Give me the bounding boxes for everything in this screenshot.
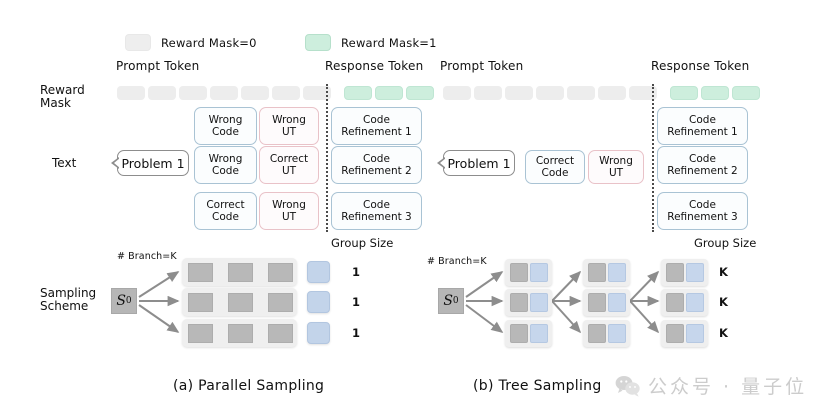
card-ut: Correct UT [259, 146, 319, 184]
card-code: Wrong Code [194, 107, 257, 145]
card-response-l2: Refinement 3 [341, 211, 412, 224]
token-chip-prompt [474, 86, 502, 100]
card-response-l2: Refinement 3 [667, 211, 738, 224]
card-ut-l1: Wrong [599, 155, 633, 168]
group-size-value: K [719, 295, 728, 309]
row-label-sampling-l2: Scheme [40, 300, 96, 313]
card-ut-l2: UT [282, 126, 296, 139]
branch-label-left: # Branch=K [117, 251, 177, 262]
chain-node [268, 263, 293, 282]
card-code-l1: Correct [206, 199, 244, 212]
chain-node [228, 263, 253, 282]
root-state-subscript: 0 [126, 296, 132, 306]
reward-mask-row-right [443, 86, 760, 100]
caption-tree-sampling: (b) Tree Sampling [473, 378, 602, 394]
tree-node [583, 320, 630, 347]
root-state-symbol: S [116, 293, 126, 309]
tree-node-state [510, 324, 528, 343]
chain-node [268, 324, 293, 343]
branch-label-right: # Branch=K [427, 256, 487, 267]
sampling-chain [182, 258, 297, 286]
problem-bubble-left: Problem 1 [117, 150, 189, 176]
result-box [307, 291, 330, 313]
token-chip-response [670, 86, 698, 100]
chain-node [188, 263, 213, 282]
card-ut-l1: Wrong [272, 114, 306, 127]
card-ut-l2: UT [609, 167, 623, 180]
chain-node [228, 293, 253, 312]
header-prompt-token-right: Prompt Token [440, 59, 523, 73]
figure-root: Reward Mask=0 Reward Mask=1 Prompt Token… [0, 0, 832, 414]
token-chip-prompt [443, 86, 471, 100]
tree-node [661, 259, 708, 286]
tree-node-result [686, 293, 704, 312]
card-ut: Wrong UT [588, 150, 644, 184]
tree-node-result [530, 293, 548, 312]
chain-node [188, 293, 213, 312]
card-ut-l2: UT [282, 211, 296, 224]
legend-label-mask0: Reward Mask=0 [161, 36, 257, 50]
result-box [307, 261, 330, 283]
tree-node-state [666, 293, 684, 312]
caption-parallel-sampling: (a) Parallel Sampling [173, 378, 324, 394]
tree-node-result [530, 324, 548, 343]
tree-node-state [666, 263, 684, 282]
card-code-l2: Code [212, 126, 239, 139]
token-chip-prompt [536, 86, 564, 100]
card-response: Code Refinement 2 [331, 146, 422, 184]
row-label-reward-mask-l2: Mask [40, 97, 85, 110]
card-code: Correct Code [194, 192, 257, 230]
tree-node [661, 320, 708, 347]
card-code: Correct Code [525, 150, 585, 184]
card-response-l2: Refinement 2 [667, 165, 738, 178]
token-chip-prompt [117, 86, 145, 100]
token-chip-response [344, 86, 372, 100]
legend-item-mask1: Reward Mask=1 [305, 34, 437, 51]
reward-mask-row-left [117, 86, 434, 100]
divider-prompt-response-left [326, 84, 328, 232]
card-code: Wrong Code [194, 146, 257, 184]
tree-node [505, 289, 552, 316]
card-response: Code Refinement 2 [657, 146, 748, 184]
token-chip-prompt [598, 86, 626, 100]
chain-node [188, 324, 213, 343]
token-chip-response [406, 86, 434, 100]
root-state-node-left: S0 [111, 288, 137, 314]
root-state-node-right: S0 [438, 288, 464, 314]
sampling-chain [182, 319, 297, 347]
tree-node-result [608, 324, 626, 343]
token-chip-prompt [148, 86, 176, 100]
card-response-l1: Code [689, 114, 716, 127]
row-label-text: Text [52, 157, 76, 170]
row-label-reward-mask: Reward Mask [40, 84, 85, 110]
legend-label-mask1: Reward Mask=1 [341, 36, 437, 50]
card-response-l1: Code [689, 199, 716, 212]
card-code-l2: Code [212, 211, 239, 224]
card-code-l1: Wrong [209, 153, 243, 166]
group-size-value: 1 [352, 265, 360, 279]
card-response: Code Refinement 3 [657, 192, 748, 230]
legend-swatch-mask1 [305, 34, 331, 51]
card-ut-l1: Correct [270, 153, 308, 166]
card-code-l1: Wrong [209, 114, 243, 127]
token-chip-prompt [505, 86, 533, 100]
group-size-value: K [719, 265, 728, 279]
card-ut: Wrong UT [259, 107, 319, 145]
tree-node-state [510, 293, 528, 312]
header-prompt-token-left: Prompt Token [116, 59, 199, 73]
card-response: Code Refinement 3 [331, 192, 422, 230]
card-response: Code Refinement 1 [657, 107, 748, 145]
header-response-token-left: Response Token [325, 59, 423, 73]
card-response-l2: Refinement 1 [341, 126, 412, 139]
problem-bubble-right: Problem 1 [443, 150, 515, 176]
tree-node-result [686, 324, 704, 343]
card-code-l1: Correct [536, 155, 574, 168]
card-response-l1: Code [363, 199, 390, 212]
result-box [307, 322, 330, 344]
card-response-l1: Code [363, 153, 390, 166]
watermark: 公众号 · 量子位 [615, 372, 807, 399]
card-ut-l2: UT [282, 165, 296, 178]
tree-node-state [666, 324, 684, 343]
legend-item-mask0: Reward Mask=0 [125, 34, 257, 51]
tree-node-state [588, 263, 606, 282]
tree-node-state [588, 293, 606, 312]
tree-node-state [588, 324, 606, 343]
sampling-chain [182, 288, 297, 316]
watermark-text: 公众号 · 量子位 [648, 372, 807, 399]
tree-node-result [608, 263, 626, 282]
root-state-symbol: S [443, 293, 453, 309]
token-chip-prompt [179, 86, 207, 100]
tree-node [505, 259, 552, 286]
token-chip-response [375, 86, 403, 100]
card-response-l2: Refinement 2 [341, 165, 412, 178]
root-state-subscript: 0 [453, 296, 459, 306]
card-response-l2: Refinement 1 [667, 126, 738, 139]
card-response-l1: Code [363, 114, 390, 127]
tree-node [505, 320, 552, 347]
group-size-value: 1 [352, 295, 360, 309]
token-chip-prompt [567, 86, 595, 100]
token-chip-prompt [210, 86, 238, 100]
card-ut-l1: Wrong [272, 199, 306, 212]
row-label-sampling-scheme: Sampling Scheme [40, 287, 96, 313]
card-ut: Wrong UT [259, 192, 319, 230]
card-code-l2: Code [212, 165, 239, 178]
tree-node-result [608, 293, 626, 312]
token-chip-response [732, 86, 760, 100]
card-code-l2: Code [542, 167, 569, 180]
tree-node [583, 289, 630, 316]
token-chip-prompt [272, 86, 300, 100]
divider-prompt-response-right [652, 84, 654, 232]
group-size-header-right: Group Size [694, 236, 756, 250]
tree-node-result [686, 263, 704, 282]
chain-node [228, 324, 253, 343]
group-size-header-left: Group Size [331, 236, 393, 250]
tree-node [583, 259, 630, 286]
group-size-value: 1 [352, 326, 360, 340]
tree-node-result [530, 263, 548, 282]
header-response-token-right: Response Token [651, 59, 749, 73]
wechat-icon [615, 375, 641, 397]
chain-node [268, 293, 293, 312]
card-response: Code Refinement 1 [331, 107, 422, 145]
group-size-value: K [719, 326, 728, 340]
token-chip-response [701, 86, 729, 100]
card-response-l1: Code [689, 153, 716, 166]
legend-swatch-mask0 [125, 34, 151, 51]
tree-node [661, 289, 708, 316]
token-chip-prompt [241, 86, 269, 100]
tree-node-state [510, 263, 528, 282]
